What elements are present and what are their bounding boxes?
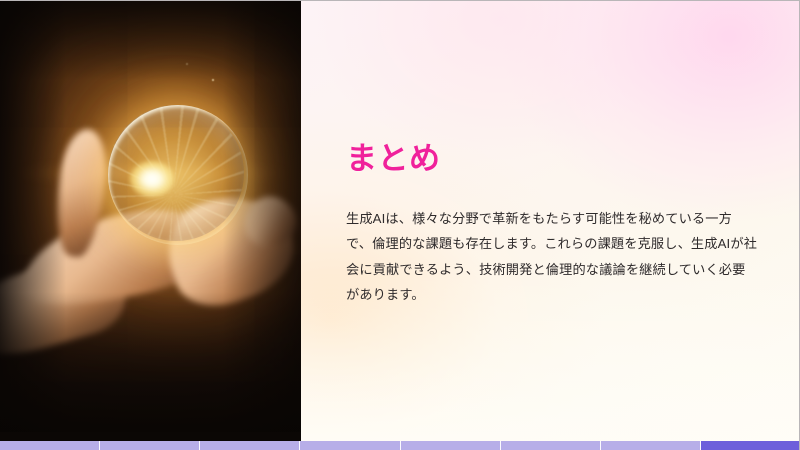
progress-segment-6[interactable] [501,441,601,450]
slide-title: まとめ [346,141,758,177]
slide-body-text: 生成AIは、様々な分野で革新をもたらす可能性を秘めている一方で、倫理的な課題も存… [346,206,758,307]
progress-segment-1[interactable] [0,441,100,450]
slide-illustration [0,1,301,442]
progress-segment-3[interactable] [200,441,300,450]
progress-segment-8[interactable] [701,441,800,450]
slide-progress-bar[interactable] [0,441,800,450]
progress-segment-5[interactable] [401,441,501,450]
progress-segment-4[interactable] [300,441,400,450]
illustration-footer-strip [0,432,301,441]
illustration-bottom-shade [0,292,301,442]
slide-content-panel: まとめ 生成AIは、様々な分野で革新をもたらす可能性を秘めている一方で、倫理的な… [301,1,799,442]
progress-segment-2[interactable] [100,441,200,450]
progress-segment-7[interactable] [601,441,701,450]
slide-text-block: まとめ 生成AIは、様々な分野で革新をもたらす可能性を秘めている一方で、倫理的な… [346,141,758,307]
presentation-slide: まとめ 生成AIは、様々な分野で革新をもたらす可能性を秘めている一方で、倫理的な… [0,0,800,450]
